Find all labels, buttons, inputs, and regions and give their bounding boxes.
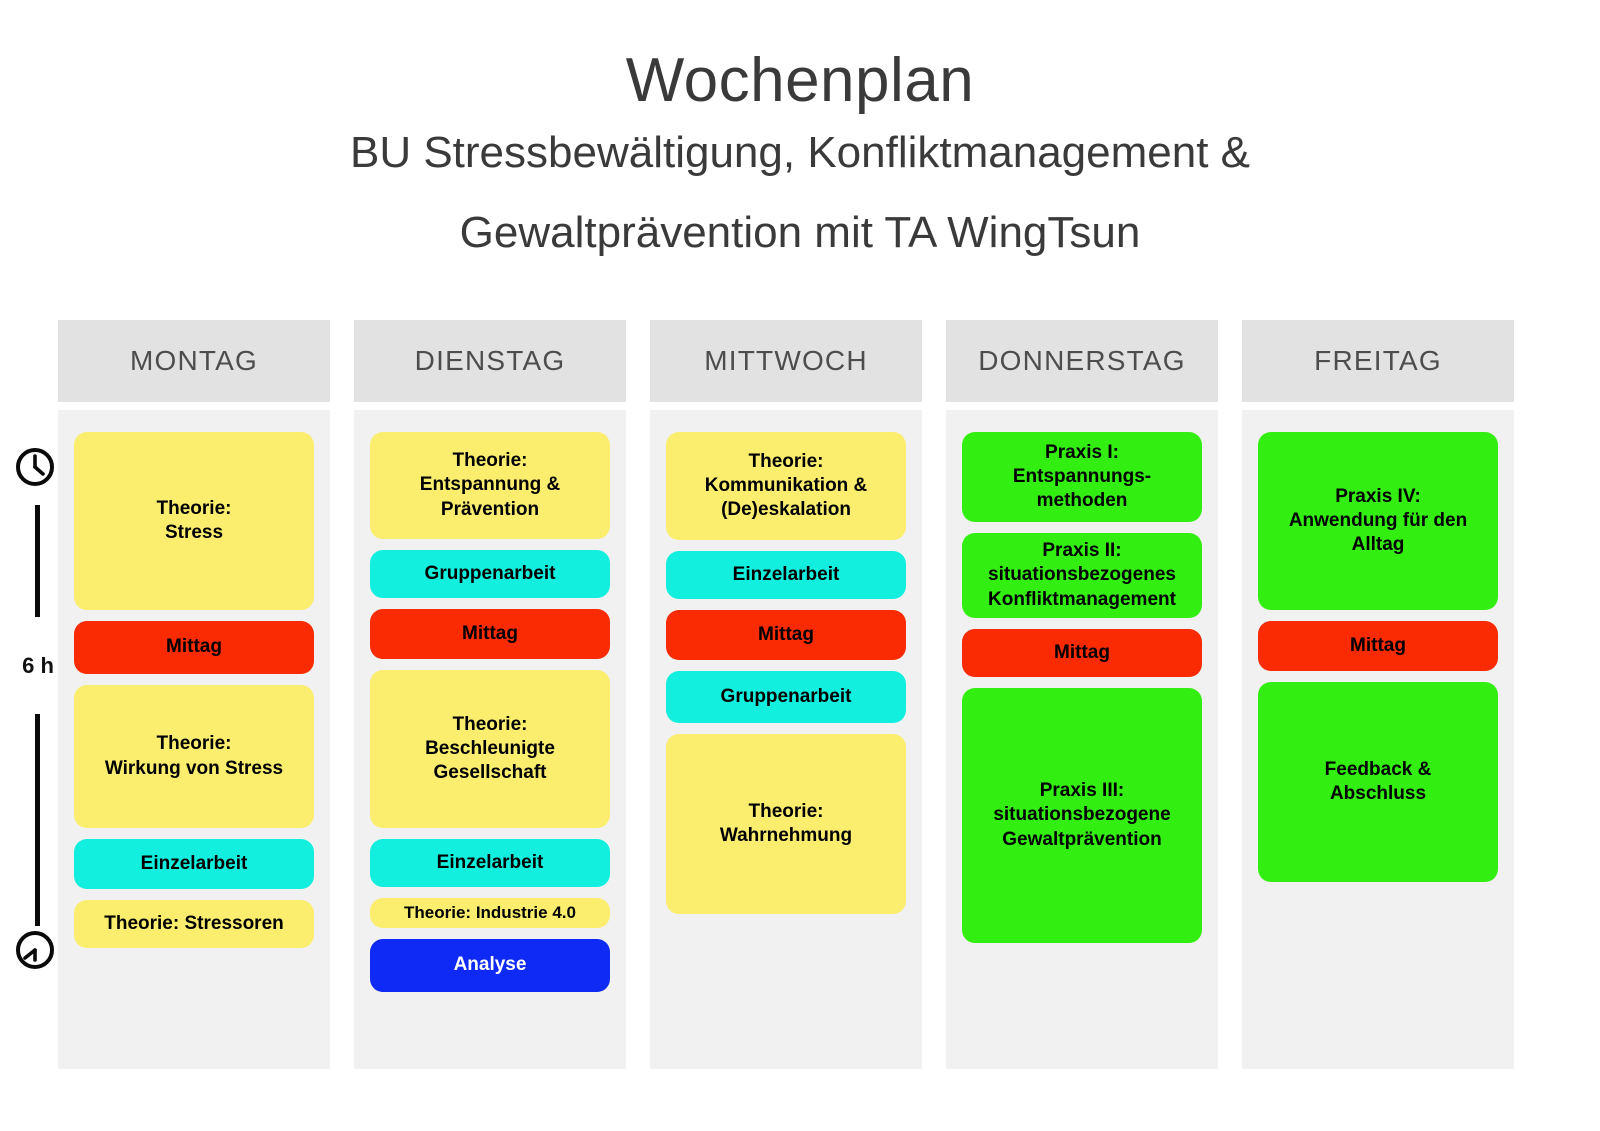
day-column-dienstag: DIENSTAGTheorie: Entspannung & Präventio… [354, 320, 626, 1069]
schedule-block[interactable]: Einzelarbeit [74, 839, 314, 889]
time-axis-line-upper [35, 505, 40, 617]
schedule-block[interactable]: Praxis II: situationsbezogenes Konfliktm… [962, 533, 1202, 618]
schedule-block-label: Theorie: Kommunikation & (De)eskalation [705, 450, 868, 523]
schedule-block[interactable]: Gruppenarbeit [666, 671, 906, 723]
schedule-block-label: Gruppenarbeit [721, 685, 852, 709]
schedule-block-label: Theorie: Entspannung & Prävention [420, 449, 560, 522]
schedule-block-label: Theorie: Stress [157, 497, 232, 546]
schedule-block[interactable]: Einzelarbeit [370, 839, 610, 887]
day-header-label: DONNERSTAG [978, 345, 1186, 377]
day-body-mittwoch: Theorie: Kommunikation & (De)eskalationE… [650, 410, 922, 1069]
schedule-block-label: Gruppenarbeit [425, 562, 556, 586]
schedule-block-label: Praxis I: Entspannungs- methoden [1013, 441, 1151, 514]
schedule-block-label: Praxis II: situationsbezogenes Konfliktm… [988, 539, 1176, 612]
day-header-freitag[interactable]: FREITAG [1242, 320, 1514, 402]
schedule-block-label: Theorie: Beschleunigte Gesellschaft [425, 713, 555, 786]
schedule-block[interactable]: Mittag [962, 629, 1202, 677]
schedule-block-label: Feedback & Abschluss [1325, 758, 1432, 807]
schedule-block[interactable]: Theorie: Wahrnehmung [666, 734, 906, 914]
day-column-freitag: FREITAGPraxis IV: Anwendung für den Allt… [1242, 320, 1514, 1069]
schedule-block[interactable]: Analyse [370, 939, 610, 992]
day-body-donnerstag: Praxis I: Entspannungs- methodenPraxis I… [946, 410, 1218, 1069]
schedule-block-label: Praxis III: situationsbezogene Gewaltprä… [993, 779, 1170, 852]
schedule-block[interactable]: Theorie: Kommunikation & (De)eskalation [666, 432, 906, 540]
day-header-montag[interactable]: MONTAG [58, 320, 330, 402]
day-column-montag: MONTAGTheorie: StressMittagTheorie: Wirk… [58, 320, 330, 1069]
page-title: Wochenplan [0, 48, 1600, 113]
schedule-block[interactable]: Theorie: Beschleunigte Gesellschaft [370, 670, 610, 828]
day-column-donnerstag: DONNERSTAGPraxis I: Entspannungs- method… [946, 320, 1218, 1069]
schedule-block[interactable]: Feedback & Abschluss [1258, 682, 1498, 882]
schedule-block-label: Mittag [1054, 641, 1110, 665]
schedule-block-label: Theorie: Wahrnehmung [720, 800, 852, 849]
schedule-block[interactable]: Theorie: Entspannung & Prävention [370, 432, 610, 539]
subtitle-line-1: BU Stressbewältigung, Konfliktmanagement… [0, 131, 1600, 175]
schedule-block-label: Mittag [166, 635, 222, 659]
time-axis-line-lower [35, 714, 40, 926]
day-header-label: MONTAG [130, 345, 258, 377]
day-header-label: MITTWOCH [704, 345, 868, 377]
day-body-dienstag: Theorie: Entspannung & PräventionGruppen… [354, 410, 626, 1069]
schedule-block[interactable]: Mittag [666, 610, 906, 660]
schedule-block[interactable]: Mittag [370, 609, 610, 659]
clock-start-icon [14, 446, 56, 488]
schedule-block[interactable]: Theorie: Stress [74, 432, 314, 610]
day-column-mittwoch: MITTWOCHTheorie: Kommunikation & (De)esk… [650, 320, 922, 1069]
schedule-block-label: Mittag [758, 623, 814, 647]
schedule-block-label: Einzelarbeit [141, 852, 248, 876]
schedule-block[interactable]: Praxis III: situationsbezogene Gewaltprä… [962, 688, 1202, 943]
schedule-block[interactable]: Mittag [74, 621, 314, 674]
day-header-label: FREITAG [1314, 345, 1442, 377]
schedule-block-label: Praxis IV: Anwendung für den Alltag [1289, 485, 1467, 558]
schedule-block-label: Einzelarbeit [437, 851, 544, 875]
schedule-block[interactable]: Mittag [1258, 621, 1498, 671]
schedule-block-label: Mittag [462, 622, 518, 646]
schedule-block-label: Theorie: Wirkung von Stress [105, 732, 283, 781]
schedule-block[interactable]: Einzelarbeit [666, 551, 906, 599]
schedule-block-label: Analyse [454, 953, 527, 977]
schedule-block-label: Theorie: Stressoren [104, 912, 284, 936]
schedule-block[interactable]: Theorie: Stressoren [74, 900, 314, 948]
day-body-freitag: Praxis IV: Anwendung für den AlltagMitta… [1242, 410, 1514, 1069]
day-header-label: DIENSTAG [415, 345, 566, 377]
schedule-block[interactable]: Theorie: Wirkung von Stress [74, 685, 314, 828]
day-header-donnerstag[interactable]: DONNERSTAG [946, 320, 1218, 402]
schedule-block[interactable]: Praxis IV: Anwendung für den Alltag [1258, 432, 1498, 610]
week-grid: MONTAGTheorie: StressMittagTheorie: Wirk… [58, 320, 1516, 1069]
day-header-mittwoch[interactable]: MITTWOCH [650, 320, 922, 402]
title-area: Wochenplan BU Stressbewältigung, Konflik… [0, 48, 1600, 291]
clock-end-icon [14, 929, 56, 971]
schedule-block[interactable]: Praxis I: Entspannungs- methoden [962, 432, 1202, 522]
schedule-block[interactable]: Gruppenarbeit [370, 550, 610, 598]
schedule-block[interactable]: Theorie: Industrie 4.0 [370, 898, 610, 928]
subtitle-line-2: Gewaltprävention mit TA WingTsun [0, 211, 1600, 255]
schedule-block-label: Mittag [1350, 634, 1406, 658]
day-header-dienstag[interactable]: DIENSTAG [354, 320, 626, 402]
schedule-block-label: Theorie: Industrie 4.0 [404, 902, 576, 924]
day-body-montag: Theorie: StressMittagTheorie: Wirkung vo… [58, 410, 330, 1069]
schedule-block-label: Einzelarbeit [733, 563, 840, 587]
